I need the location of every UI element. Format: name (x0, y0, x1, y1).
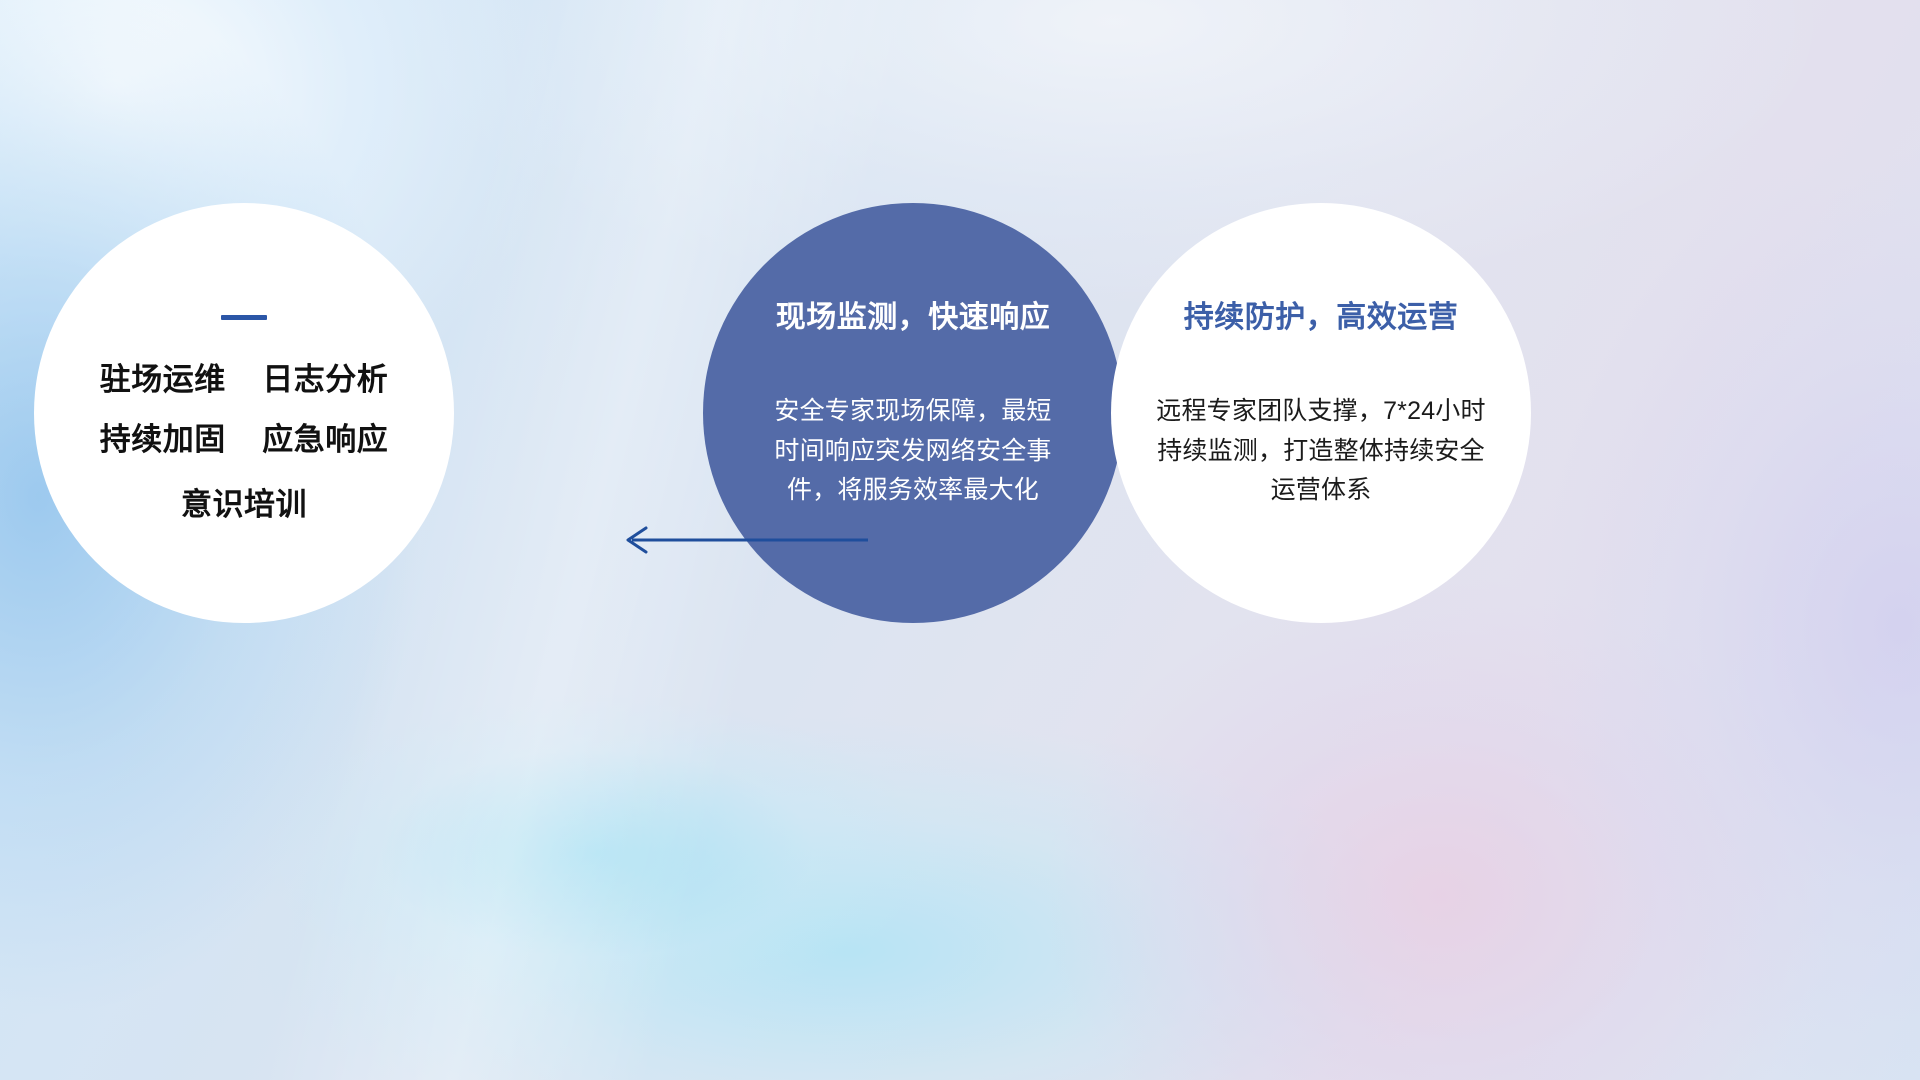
right-circle-body: 远程专家团队支撑，7*24小时持续监测，打造整体持续安全运营体系 (1151, 392, 1491, 511)
right-circle-content: 持续防护，高效运营 远程专家团队支撑，7*24小时持续监测，打造整体持续安全运营… (1111, 203, 1531, 623)
left-circle-line-3: 意识培训 (181, 489, 307, 520)
left-circle-content: 驻场运维 日志分析 持续加固 应急响应 意识培训 (34, 203, 454, 623)
right-circle-title: 持续防护，高效运营 (1184, 301, 1459, 334)
middle-circle-body: 安全专家现场保障，最短时间响应突发网络安全事件，将服务效率最大化 (763, 392, 1063, 511)
middle-circle-content: 现场监测，快速响应 安全专家现场保障，最短时间响应突发网络安全事件，将服务效率最… (703, 203, 1123, 623)
slide-canvas: 驻场运维 日志分析 持续加固 应急响应 意识培训 现场监测，快速响应 安全专家现… (0, 0, 1920, 1080)
left-circle-line-2: 持续加固 应急响应 (100, 424, 388, 455)
middle-circle-title: 现场监测，快速响应 (776, 301, 1051, 334)
short-blue-rule-icon (221, 315, 267, 320)
left-circle-line-1: 驻场运维 日志分析 (100, 364, 388, 395)
